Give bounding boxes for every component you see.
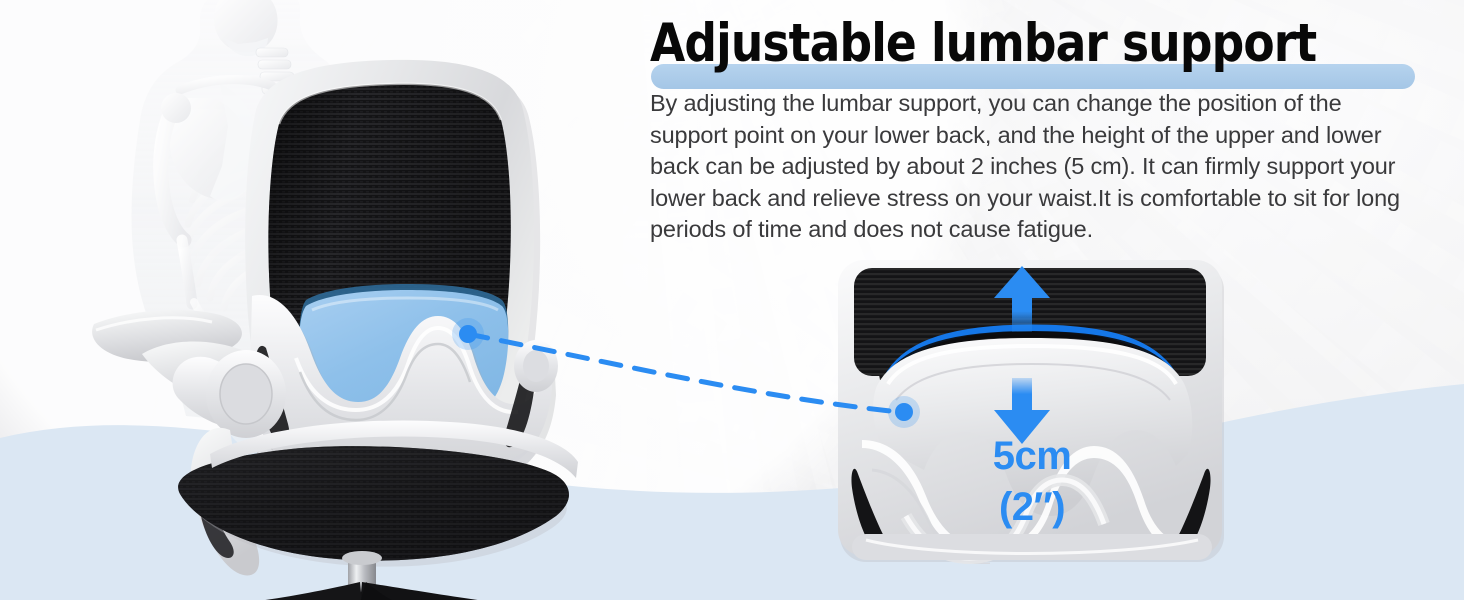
lumbar-closeup-inset: 5cm (2″) [836, 258, 1228, 564]
page-title: Adjustable lumbar support [650, 14, 1404, 74]
description-text: By adjusting the lumbar support, you can… [650, 88, 1420, 246]
office-chair-illustration [60, 58, 700, 600]
backrest-pivot-right [514, 340, 558, 392]
product-feature-banner: Adjustable lumbar support By adjusting t… [0, 0, 1464, 600]
description-paragraph: By adjusting the lumbar support, you can… [650, 88, 1420, 246]
headline-block: Adjustable lumbar support [650, 14, 1440, 74]
